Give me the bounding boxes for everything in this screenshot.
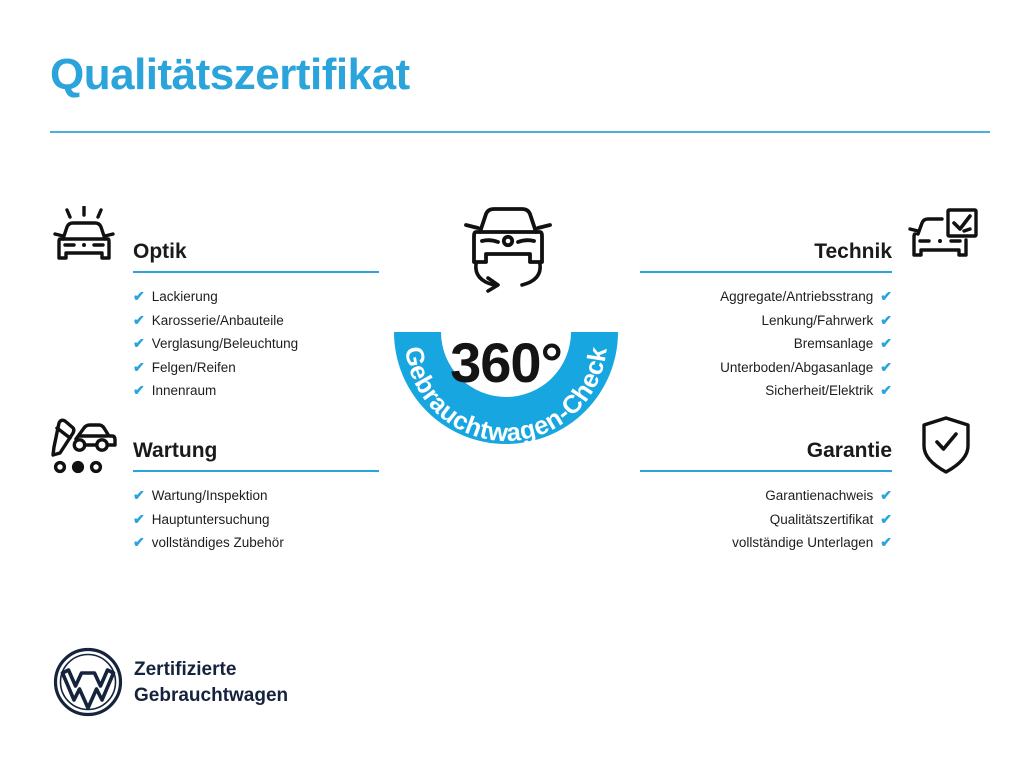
check-icon: ✔: [133, 356, 145, 380]
list-item: Bremsanlage ✔: [640, 332, 892, 356]
check-icon: ✔: [133, 484, 145, 508]
check-icon: ✔: [133, 285, 145, 309]
section-wartung-title: Wartung: [133, 437, 379, 465]
section-wartung-list: ✔ Wartung/Inspektion ✔ Hauptuntersuchung…: [133, 484, 379, 555]
section-garantie: Garantie Garantienachweis ✔ Qualitätszer…: [640, 437, 892, 555]
section-technik-divider: [640, 271, 892, 273]
vw-footer-line2: Gebrauchtwagen: [134, 683, 288, 709]
list-item: Sicherheit/Elektrik ✔: [640, 379, 892, 403]
car-front-rotate-icon: [452, 196, 564, 300]
section-wartung: Wartung ✔ Wartung/Inspektion ✔ Hauptunte…: [133, 437, 379, 555]
title-divider: [50, 131, 990, 133]
vw-logo: [52, 646, 124, 718]
list-item-label: Verglasung/Beleuchtung: [152, 332, 298, 356]
list-item-label: Unterboden/Abgasanlage: [720, 356, 873, 380]
section-wartung-divider: [133, 470, 379, 472]
check-icon: ✔: [880, 379, 892, 403]
section-technik-list: Aggregate/Antriebsstrang ✔ Lenkung/Fahrw…: [640, 285, 892, 403]
section-garantie-list: Garantienachweis ✔ Qualitätszertifikat ✔…: [640, 484, 892, 555]
badge-degrees: 360°: [372, 330, 640, 395]
section-optik-list: ✔ Lackierung ✔ Karosserie/Anbauteile ✔ V…: [133, 285, 379, 403]
check-icon: ✔: [133, 508, 145, 532]
section-optik: Optik ✔ Lackierung ✔ Karosserie/Anbautei…: [133, 238, 379, 403]
check-icon: ✔: [133, 531, 145, 555]
section-optik-title: Optik: [133, 238, 379, 266]
list-item-label: Qualitätszertifikat: [770, 508, 874, 532]
vw-footer-text: Zertifizierte Gebrauchtwagen: [134, 657, 288, 709]
list-item: Qualitätszertifikat ✔: [640, 508, 892, 532]
list-item-label: Aggregate/Antriebsstrang: [720, 285, 873, 309]
pencil-car-service-icon: [46, 416, 122, 478]
section-optik-divider: [133, 271, 379, 273]
list-item: ✔ Felgen/Reifen: [133, 356, 379, 380]
vw-footer-line1: Zertifizierte: [134, 657, 288, 683]
list-item-label: Bremsanlage: [794, 332, 874, 356]
page-title: Qualitätszertifikat: [50, 52, 410, 98]
list-item-label: vollständiges Zubehör: [152, 531, 284, 555]
list-item: Lenkung/Fahrwerk ✔: [640, 309, 892, 333]
list-item-label: Felgen/Reifen: [152, 356, 236, 380]
check-icon: ✔: [880, 508, 892, 532]
list-item-label: Garantienachweis: [765, 484, 873, 508]
section-technik: Technik Aggregate/Antriebsstrang ✔ Lenku…: [640, 238, 892, 403]
list-item: ✔ Hauptuntersuchung: [133, 508, 379, 532]
list-item-label: Hauptuntersuchung: [152, 508, 270, 532]
section-technik-head: Technik: [640, 238, 892, 272]
list-item: Garantienachweis ✔: [640, 484, 892, 508]
section-garantie-divider: [640, 470, 892, 472]
car-front-checkbox-icon: [906, 208, 982, 270]
check-icon: ✔: [133, 332, 145, 356]
list-item-label: Innenraum: [152, 379, 217, 403]
check-icon: ✔: [880, 332, 892, 356]
list-item-label: Sicherheit/Elektrik: [765, 379, 873, 403]
list-item: Aggregate/Antriebsstrang ✔: [640, 285, 892, 309]
list-item: ✔ Verglasung/Beleuchtung: [133, 332, 379, 356]
section-technik-title: Technik: [640, 238, 892, 266]
list-item: ✔ Lackierung: [133, 285, 379, 309]
check-icon: ✔: [880, 484, 892, 508]
list-item-label: vollständige Unterlagen: [732, 531, 873, 555]
car-front-shine-icon: [46, 206, 122, 268]
section-wartung-head: Wartung: [133, 437, 379, 471]
list-item: ✔ vollständiges Zubehör: [133, 531, 379, 555]
list-item-label: Karosserie/Anbauteile: [152, 309, 284, 333]
section-optik-head: Optik: [133, 238, 379, 272]
list-item: vollständige Unterlagen ✔: [640, 531, 892, 555]
list-item: ✔ Innenraum: [133, 379, 379, 403]
check-icon: ✔: [880, 309, 892, 333]
check-icon: ✔: [880, 356, 892, 380]
check-icon: ✔: [133, 309, 145, 333]
shield-check-icon: [908, 414, 984, 476]
section-garantie-title: Garantie: [640, 437, 892, 465]
list-item-label: Lenkung/Fahrwerk: [761, 309, 873, 333]
list-item: ✔ Wartung/Inspektion: [133, 484, 379, 508]
list-item: Unterboden/Abgasanlage ✔: [640, 356, 892, 380]
list-item: ✔ Karosserie/Anbauteile: [133, 309, 379, 333]
list-item-label: Lackierung: [152, 285, 218, 309]
certificate-page: Qualitätszertifikat Optik ✔ Lackierung: [0, 0, 1024, 768]
check-icon: ✔: [880, 531, 892, 555]
check-icon: ✔: [880, 285, 892, 309]
section-garantie-head: Garantie: [640, 437, 892, 471]
list-item-label: Wartung/Inspektion: [152, 484, 268, 508]
check-icon: ✔: [133, 379, 145, 403]
